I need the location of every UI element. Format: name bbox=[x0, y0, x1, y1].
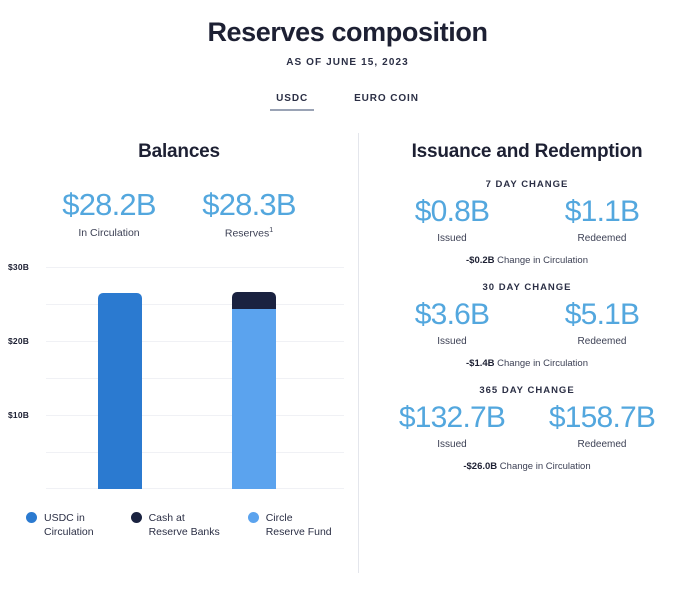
net-change-30-day: -$1.4B Change in Circulation bbox=[359, 358, 695, 369]
tab-usdc[interactable]: USDC bbox=[270, 92, 314, 111]
stat-reserves-label-text: Reserves bbox=[225, 227, 269, 239]
legend-dot-icon-cash bbox=[131, 512, 142, 523]
redeemed-label-30-day: Redeemed bbox=[527, 336, 677, 347]
stat-in-circulation-value: $28.2B bbox=[39, 189, 179, 220]
bar-segment-circle-reserve-fund bbox=[232, 309, 276, 489]
change-row-30-day: $3.6B Issued $5.1B Redeemed bbox=[359, 300, 695, 347]
bar-in-circulation[interactable] bbox=[98, 293, 142, 489]
issuance-panel: Issuance and Redemption 7 DAY CHANGE $0.… bbox=[359, 133, 695, 573]
balances-panel: Balances $28.2B In Circulation $28.3B Re… bbox=[0, 133, 358, 573]
change-row-365-day: $132.7B Issued $158.7B Redeemed bbox=[359, 403, 695, 450]
stat-in-circulation-label: In Circulation bbox=[39, 227, 179, 239]
panels-container: Balances $28.2B In Circulation $28.3B Re… bbox=[0, 133, 695, 573]
legend-dot-icon-usdc bbox=[26, 512, 37, 523]
legend-label-cash: Cash at Reserve Banks bbox=[149, 511, 226, 539]
page-title: Reserves composition bbox=[0, 18, 695, 48]
stat-in-circulation: $28.2B In Circulation bbox=[39, 189, 179, 240]
redeemed-label-7-day: Redeemed bbox=[527, 233, 677, 244]
balances-heading: Balances bbox=[0, 141, 358, 163]
redeemed-value-7-day: $1.1B bbox=[527, 197, 677, 227]
change-title-365-day: 365 DAY CHANGE bbox=[359, 385, 695, 396]
net-change-7-day: -$0.2B Change in Circulation bbox=[359, 255, 695, 266]
issued-value-30-day: $3.6B bbox=[377, 300, 527, 330]
legend-label-fund: Circle Reserve Fund bbox=[266, 511, 332, 539]
redeemed-value-30-day: $5.1B bbox=[527, 300, 677, 330]
bar-segment-cash-at-reserve-banks bbox=[232, 292, 276, 309]
redeemed-stat-365-day: $158.7B Redeemed bbox=[527, 403, 677, 450]
change-title-30-day: 30 DAY CHANGE bbox=[359, 282, 695, 293]
redeemed-value-365-day: $158.7B bbox=[527, 403, 677, 433]
issued-label-365-day: Issued bbox=[377, 439, 527, 450]
bar-reserves[interactable] bbox=[232, 292, 276, 489]
ytick-30b: $30B bbox=[8, 262, 29, 272]
legend-item-circle-reserve-fund: Circle Reserve Fund bbox=[248, 511, 332, 539]
issued-stat-365-day: $132.7B Issued bbox=[377, 403, 527, 450]
issued-value-365-day: $132.7B bbox=[377, 403, 527, 433]
change-block-30-day: 30 DAY CHANGE $3.6B Issued $5.1B Redeeme… bbox=[359, 282, 695, 369]
redeemed-stat-7-day: $1.1B Redeemed bbox=[527, 197, 677, 244]
net-change-365-day: -$26.0B Change in Circulation bbox=[359, 461, 695, 472]
net-change-value-7-day: -$0.2B bbox=[466, 255, 495, 266]
issued-label-7-day: Issued bbox=[377, 233, 527, 244]
change-row-7-day: $0.8B Issued $1.1B Redeemed bbox=[359, 197, 695, 244]
balances-stat-row: $28.2B In Circulation $28.3B Reserves1 bbox=[0, 189, 358, 240]
issuance-heading: Issuance and Redemption bbox=[359, 141, 695, 163]
net-change-label-7-day: Change in Circulation bbox=[497, 255, 588, 266]
stat-reserves-label: Reserves1 bbox=[179, 227, 319, 240]
change-block-7-day: 7 DAY CHANGE $0.8B Issued $1.1B Redeemed… bbox=[359, 179, 695, 266]
legend-item-cash-at-reserve-banks: Cash at Reserve Banks bbox=[131, 511, 226, 539]
chart-bars bbox=[46, 267, 344, 489]
legend-dot-icon-fund bbox=[248, 512, 259, 523]
issued-value-7-day: $0.8B bbox=[377, 197, 527, 227]
net-change-label-365-day: Change in Circulation bbox=[500, 461, 591, 472]
redeemed-stat-30-day: $5.1B Redeemed bbox=[527, 300, 677, 347]
bar-segment-usdc-in-circulation bbox=[98, 293, 142, 489]
net-change-value-30-day: -$1.4B bbox=[466, 358, 495, 369]
change-block-365-day: 365 DAY CHANGE $132.7B Issued $158.7B Re… bbox=[359, 385, 695, 472]
legend-label-usdc: USDC in Circulation bbox=[44, 511, 109, 539]
net-change-label-30-day: Change in Circulation bbox=[497, 358, 588, 369]
redeemed-label-365-day: Redeemed bbox=[527, 439, 677, 450]
reserves-composition-page: Reserves composition AS OF JUNE 15, 2023… bbox=[0, 18, 695, 573]
footnote-marker: 1 bbox=[269, 227, 273, 234]
issued-stat-7-day: $0.8B Issued bbox=[377, 197, 527, 244]
tab-euro-coin[interactable]: EURO COIN bbox=[348, 92, 425, 111]
issued-label-30-day: Issued bbox=[377, 336, 527, 347]
issued-stat-30-day: $3.6B Issued bbox=[377, 300, 527, 347]
stat-reserves-value: $28.3B bbox=[179, 189, 319, 220]
currency-tabs: USDC EURO COIN bbox=[0, 92, 695, 111]
chart-legend: USDC in Circulation Cash at Reserve Bank… bbox=[0, 511, 358, 539]
balances-bar-chart: $30B $20B $10B bbox=[0, 257, 358, 497]
ytick-10b: $10B bbox=[8, 410, 29, 420]
page-subtitle-date: AS OF JUNE 15, 2023 bbox=[0, 57, 695, 68]
change-title-7-day: 7 DAY CHANGE bbox=[359, 179, 695, 190]
ytick-20b: $20B bbox=[8, 336, 29, 346]
stat-reserves: $28.3B Reserves1 bbox=[179, 189, 319, 240]
net-change-value-365-day: -$26.0B bbox=[463, 461, 497, 472]
legend-item-usdc-in-circulation: USDC in Circulation bbox=[26, 511, 109, 539]
